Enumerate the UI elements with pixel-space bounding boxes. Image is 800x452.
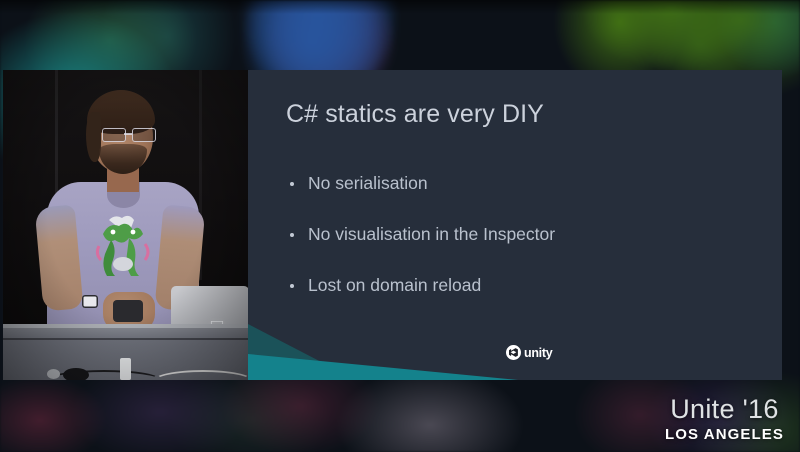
list-item: Lost on domain reload — [286, 275, 555, 296]
slide-accent-triangle-light — [248, 354, 518, 380]
slide-title: C# statics are very DIY — [286, 100, 544, 129]
list-item: No visualisation in the Inspector — [286, 224, 555, 245]
camera-vignette — [3, 70, 248, 380]
unity-logo: unity — [506, 345, 552, 360]
background-top-shade — [0, 0, 800, 14]
presentation-slide: C# statics are very DIY No serialisation… — [248, 70, 782, 380]
event-title: Unite '16 — [665, 396, 784, 423]
slide-bullet-list: No serialisation No visualisation in the… — [286, 173, 555, 326]
video-frame:  C# statics are very DIY No serialisati… — [0, 0, 800, 452]
unity-cube-icon — [506, 345, 521, 360]
event-location: LOS ANGELES — [665, 427, 784, 442]
speaker-camera-feed:  — [3, 70, 248, 380]
unity-wordmark: unity — [524, 346, 552, 360]
list-item: No serialisation — [286, 173, 555, 194]
event-branding: Unite '16 LOS ANGELES — [665, 396, 784, 442]
